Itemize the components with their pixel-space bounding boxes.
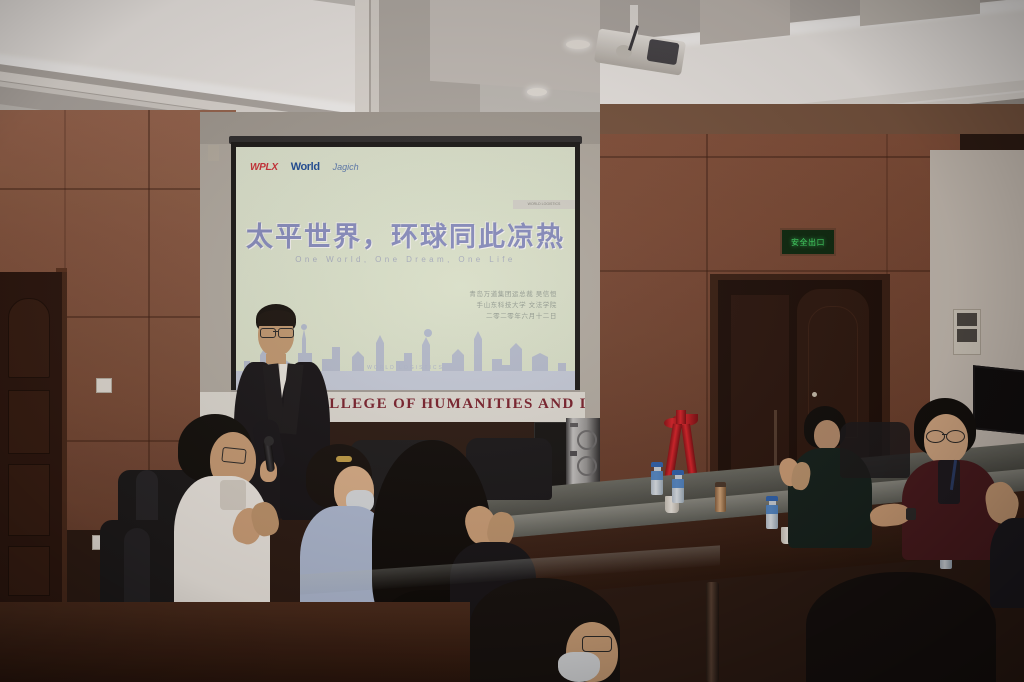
water-bottle[interactable] — [766, 496, 778, 529]
audience-foreground — [470, 578, 660, 682]
water-bottle[interactable] — [672, 470, 684, 503]
chair[interactable] — [840, 422, 910, 478]
travel-tumbler[interactable] — [715, 482, 726, 512]
face-mask — [558, 652, 600, 682]
eyeglasses — [582, 636, 612, 652]
door-left[interactable] — [0, 272, 67, 602]
table-front-edge — [0, 602, 470, 682]
skyline-watermark: WORLD LOGISTICS — [367, 365, 444, 371]
slide-subtitle: One World, One Dream, One Life — [236, 255, 575, 264]
door-handle-icon[interactable] — [812, 392, 817, 397]
eyeglasses — [926, 430, 945, 443]
wall-sensor — [208, 145, 219, 161]
speaker-glasses — [260, 328, 276, 338]
slide-logo-row: WPLX World Jagich — [250, 161, 359, 173]
exit-sign-label: 安全出口 — [791, 237, 825, 248]
wplx-logo: WPLX — [250, 162, 278, 173]
downlight-icon — [527, 88, 547, 96]
conference-room-photo: 安全出口 WPLX World Jagich WORLD LOGISTICS 太… — [0, 0, 1024, 682]
slide-credit-line: 青岛万道集团运总裁 吴信恒 — [469, 289, 557, 300]
downlight-icon — [566, 40, 590, 49]
eyeglasses — [946, 430, 965, 443]
slide-corner-tag: WORLD LOGISTICS — [513, 200, 575, 209]
audience-foreground-right — [806, 572, 996, 682]
slide-corner-tag-label: WORLD LOGISTICS — [513, 200, 575, 209]
wristwatch-icon — [906, 508, 916, 520]
slide-title: 太平世界，环球同此凉热 — [236, 215, 575, 254]
light-switch[interactable] — [96, 378, 112, 393]
hair — [806, 572, 996, 682]
wall-right-upper-band — [600, 104, 1024, 134]
audience-left-1 — [168, 414, 298, 614]
projector-icon — [592, 5, 688, 75]
wall-intercom-panel[interactable] — [953, 309, 981, 355]
desk-microphone[interactable] — [706, 582, 719, 682]
world-logo: World — [291, 161, 320, 173]
jagich-logo: Jagich — [333, 162, 359, 172]
eyeglasses — [221, 447, 246, 464]
water-bottle[interactable] — [651, 462, 663, 495]
hair-clip-icon — [336, 456, 352, 462]
speaker-glasses — [278, 328, 294, 338]
emergency-exit-sign: 安全出口 — [780, 228, 836, 256]
